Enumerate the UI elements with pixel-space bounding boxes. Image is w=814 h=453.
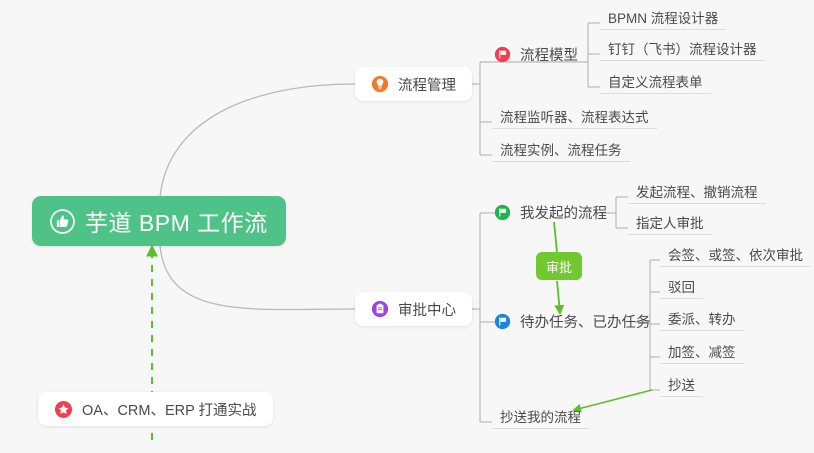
root-node[interactable]: 芋道 BPM 工作流: [32, 196, 286, 246]
leaf-process-instance-task[interactable]: 流程实例、流程任务: [492, 140, 630, 162]
branch-node-process-management[interactable]: 流程管理: [355, 67, 472, 101]
leaf-assignee-approval[interactable]: 指定人审批: [628, 213, 712, 235]
leaf-label-start-cancel-process: 发起流程、撤销流程: [636, 185, 758, 200]
approval-tag-label: 审批: [546, 257, 572, 276]
node-process-model[interactable]: 流程模型: [494, 44, 578, 65]
leaf-label-add-remove-sign: 加签、减签: [668, 345, 736, 360]
thumbs-up-icon: [50, 209, 75, 234]
link-root-to-process-management: [160, 84, 355, 197]
leaf-reject[interactable]: 驳回: [660, 277, 703, 299]
branch-label-process-management: 流程管理: [398, 74, 456, 95]
arrow-approval-in: [554, 222, 557, 252]
flag-icon: [494, 313, 511, 330]
lightbulb-icon: [371, 75, 389, 93]
arrow-approval-out: [557, 281, 560, 313]
branch-label-approval-center: 审批中心: [398, 299, 456, 320]
leaf-add-remove-sign[interactable]: 加签、减签: [660, 342, 744, 364]
leaf-label-custom-process-form: 自定义流程表单: [608, 75, 703, 90]
leaf-label-assignee-approval: 指定人审批: [636, 216, 704, 231]
mindmap-canvas: 芋道 BPM 工作流 流程管理 流程模型 BPMN 流程设计器 钉钉（飞书: [0, 0, 814, 453]
integration-note[interactable]: OA、CRM、ERP 打通实战: [38, 392, 273, 426]
node-label-todo-done-task: 待办任务、已办任务: [520, 311, 651, 332]
integration-note-label: OA、CRM、ERP 打通实战: [82, 399, 257, 420]
leaf-label-bpmn-designer: BPMN 流程设计器: [608, 11, 718, 26]
leaf-label-process-listener-expression: 流程监听器、流程表达式: [500, 110, 649, 125]
leaf-bpmn-designer[interactable]: BPMN 流程设计器: [600, 8, 726, 30]
branch-node-approval-center[interactable]: 审批中心: [355, 292, 472, 326]
clipboard-icon: [371, 300, 389, 318]
leaf-label-reject: 驳回: [668, 280, 695, 295]
leaf-label-cc-to-me-process: 抄送我的流程: [500, 410, 581, 425]
node-my-initiated-process[interactable]: 我发起的流程: [494, 202, 607, 223]
link-root-to-approval-center: [160, 246, 355, 310]
flag-icon: [494, 204, 511, 221]
leaf-label-delegate-transfer: 委派、转办: [668, 312, 736, 327]
leaf-cc[interactable]: 抄送: [660, 375, 703, 397]
node-todo-done-task[interactable]: 待办任务、已办任务: [494, 311, 651, 332]
root-label: 芋道 BPM 工作流: [85, 204, 268, 238]
leaf-cc-to-me-process[interactable]: 抄送我的流程: [492, 407, 589, 429]
star-icon: [54, 400, 73, 419]
leaf-label-process-instance-task: 流程实例、流程任务: [500, 143, 622, 158]
node-label-process-model: 流程模型: [520, 44, 578, 65]
flag-icon: [494, 46, 511, 63]
leaf-custom-process-form[interactable]: 自定义流程表单: [600, 72, 711, 94]
leaf-label-countersign-or-sequential: 会签、或签、依次审批: [668, 248, 803, 263]
approval-tag[interactable]: 审批: [536, 252, 582, 280]
leaf-label-cc: 抄送: [668, 378, 695, 393]
leaf-process-listener-expression[interactable]: 流程监听器、流程表达式: [492, 107, 657, 129]
leaf-countersign-or-sequential[interactable]: 会签、或签、依次审批: [660, 245, 811, 267]
leaf-delegate-transfer[interactable]: 委派、转办: [660, 309, 744, 331]
leaf-dingtalk-feishu-designer[interactable]: 钉钉（飞书）流程设计器: [600, 39, 765, 61]
leaf-start-cancel-process[interactable]: 发起流程、撤销流程: [628, 182, 766, 204]
leaf-label-dingtalk-feishu-designer: 钉钉（飞书）流程设计器: [608, 42, 757, 57]
node-label-my-initiated-process: 我发起的流程: [520, 202, 607, 223]
